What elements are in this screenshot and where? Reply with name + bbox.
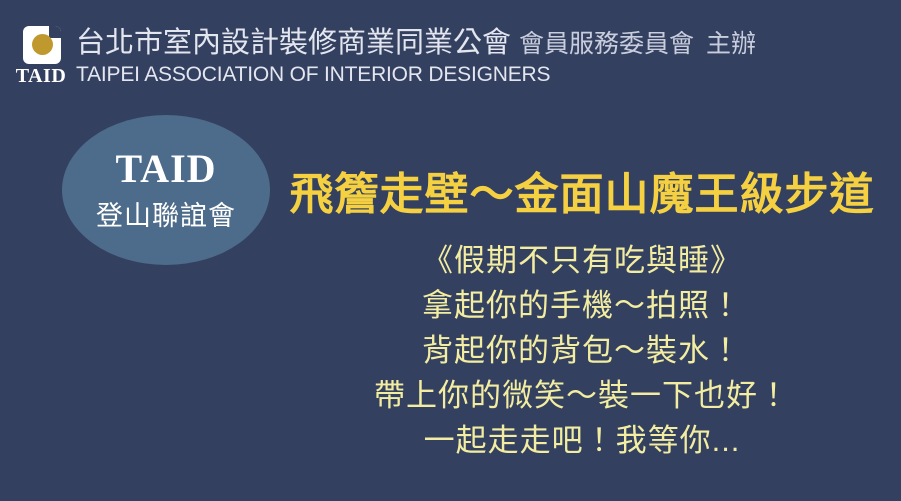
header-text-block: 台北市室內設計裝修商業同業公會 會員服務委員會 主辦 TAIPEI ASSOCI… [76, 24, 756, 88]
body-line: 一起走走吧！我等你... [282, 418, 882, 463]
header-line-secondary: TAIPEI ASSOCIATION OF INTERIOR DESIGNERS [76, 62, 756, 88]
logo-circle-icon [32, 34, 53, 55]
badge-label-en: TAID [115, 147, 216, 191]
organization-name-zh: 台北市室內設計裝修商業同業公會 [76, 26, 511, 60]
body-line: 帶上你的微笑～裝一下也好！ [282, 373, 882, 418]
header: TAID 台北市室內設計裝修商業同業公會 會員服務委員會 主辦 TAIPEI A… [12, 24, 756, 92]
logo-wordmark: TAID [12, 64, 70, 88]
poster-canvas: TAID 台北市室內設計裝修商業同業公會 會員服務委員會 主辦 TAIPEI A… [0, 0, 901, 501]
logo-notch-icon [49, 26, 61, 38]
organization-name-en: TAIPEI ASSOCIATION OF INTERIOR DESIGNERS [76, 62, 550, 88]
body-line: 拿起你的手機～拍照！ [282, 283, 882, 328]
organizer-role-zh: 主辦 [706, 27, 756, 61]
committee-name-zh: 會員服務委員會 [519, 27, 694, 61]
body-line: 背起你的背包～裝水！ [282, 328, 882, 373]
event-body-text: 《假期不只有吃與睡》 拿起你的手機～拍照！ 背起你的背包～裝水！ 帶上你的微笑～… [282, 238, 882, 463]
badge-label-zh: 登山聯誼會 [96, 199, 236, 233]
header-line-primary: 台北市室內設計裝修商業同業公會 會員服務委員會 主辦 [76, 26, 756, 61]
main-copy: 飛簷走壁～金面山魔王級步道 《假期不只有吃與睡》 拿起你的手機～拍照！ 背起你的… [282, 168, 882, 463]
event-headline: 飛簷走壁～金面山魔王級步道 [282, 168, 882, 222]
taid-logo: TAID [12, 24, 70, 90]
body-line: 《假期不只有吃與睡》 [282, 238, 882, 283]
hiking-club-badge: TAID 登山聯誼會 [62, 115, 270, 265]
